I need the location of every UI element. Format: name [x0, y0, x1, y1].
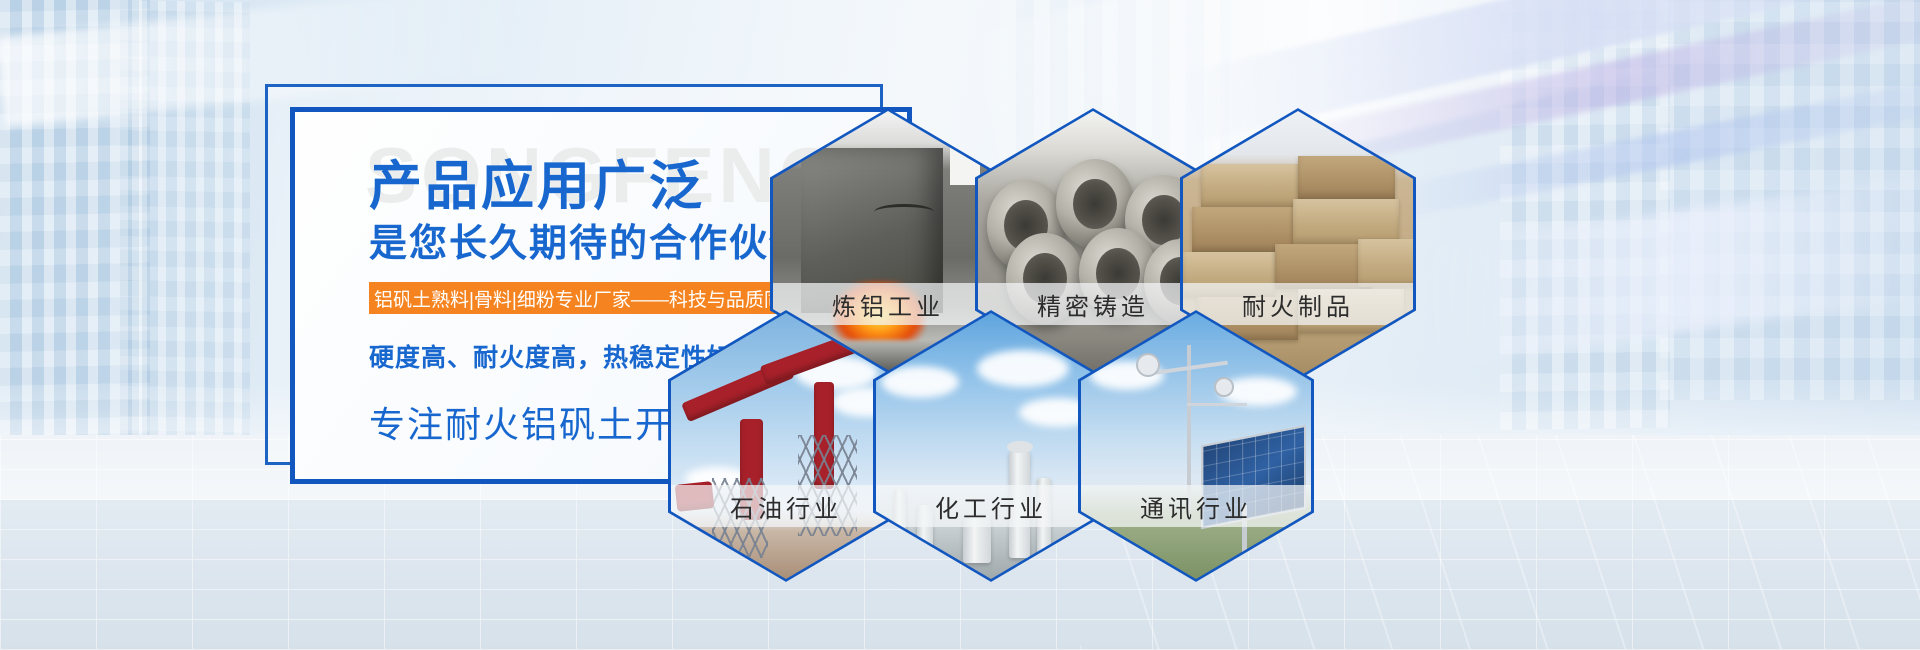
page-title: 产品应用广泛	[369, 144, 705, 220]
hex-label: 精密铸造	[978, 283, 1208, 325]
hex-label: 耐火制品	[1183, 283, 1413, 325]
promo-banner: SONGFENG 产品应用广泛 是您长久期待的合作伙伴 铝矾土熟料|骨料|细粉专…	[0, 0, 1920, 650]
building-tower-right-2	[1660, 0, 1920, 400]
hex-label: 炼铝工业	[773, 283, 1003, 325]
hex-label: 化工行业	[876, 485, 1106, 527]
hex-label: 石油行业	[671, 485, 901, 527]
industry-hex-grid: 炼铝工业 精密铸造	[660, 80, 1660, 580]
hex-label: 通讯行业	[1081, 485, 1311, 527]
